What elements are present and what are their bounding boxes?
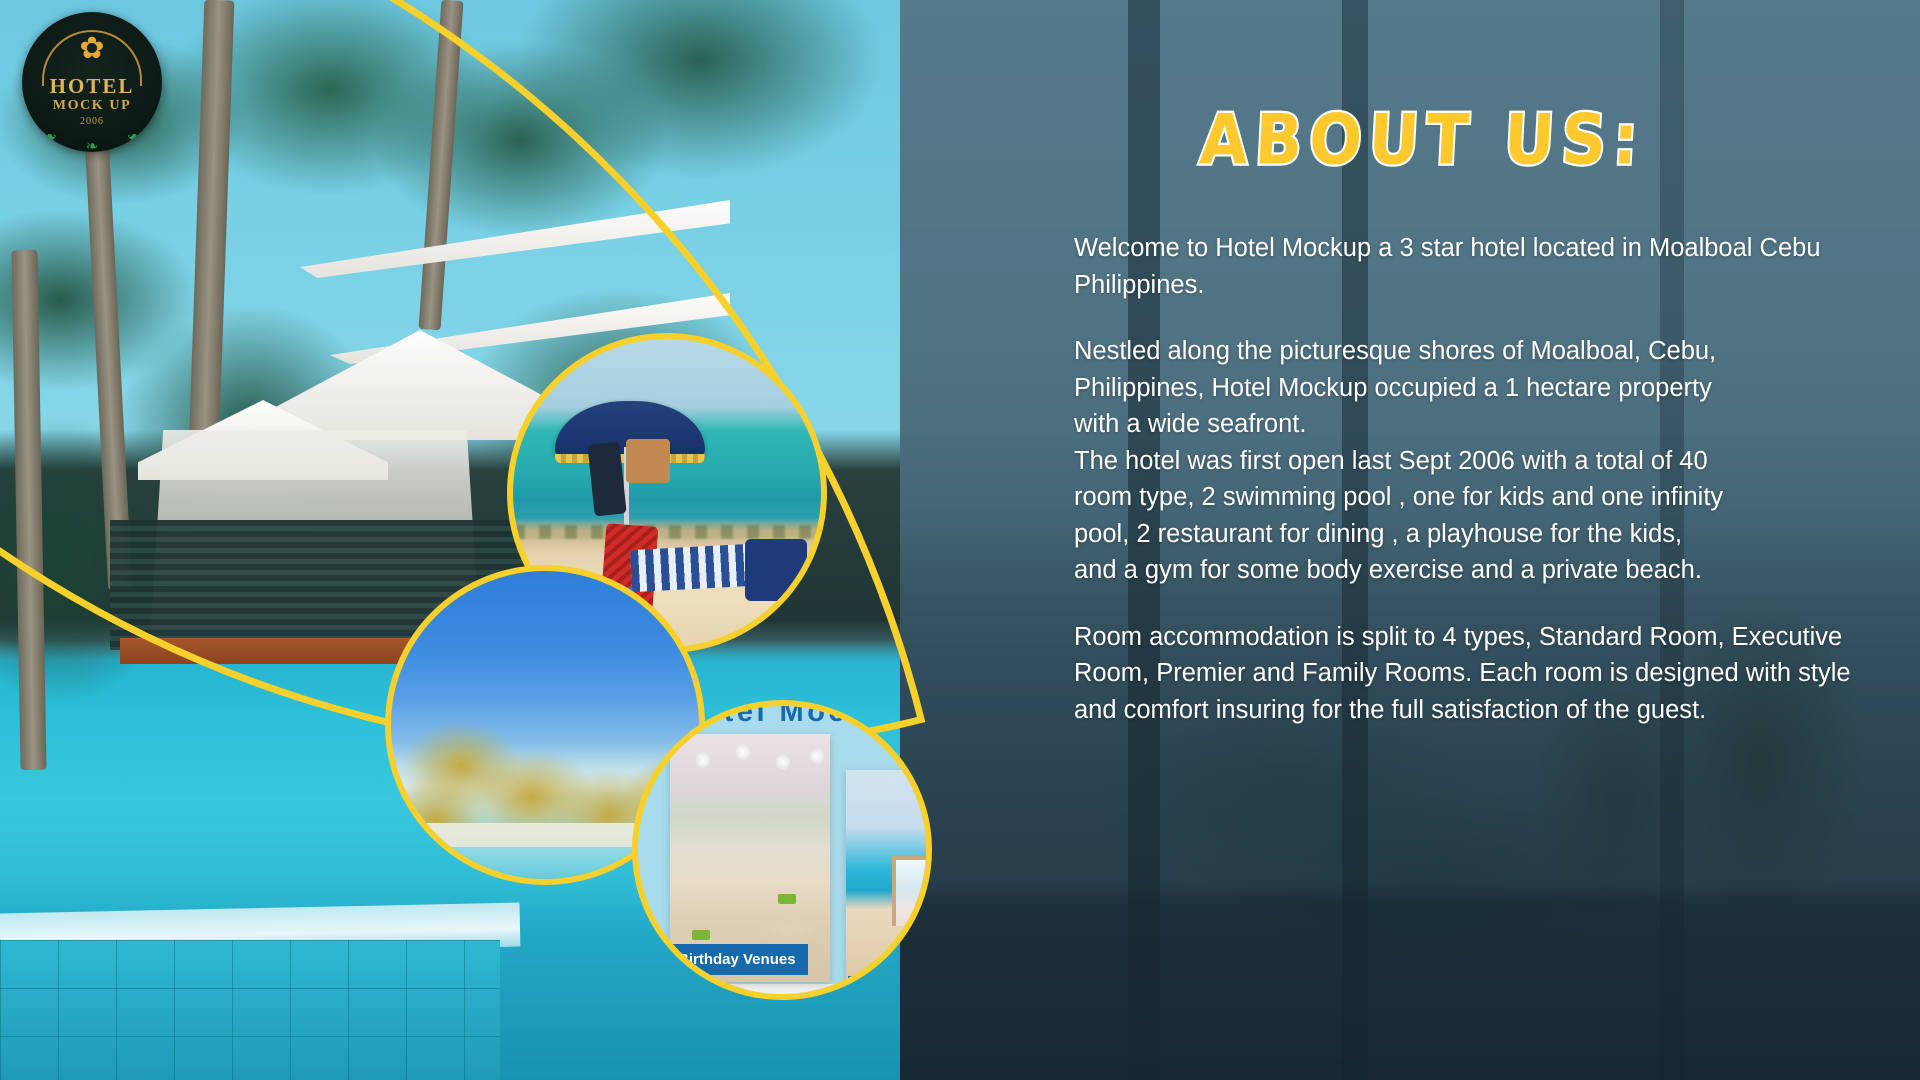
- pool-tile-wall: [0, 940, 500, 1080]
- about-paragraph-1: Welcome to Hotel Mockup a 3 star hotel l…: [1074, 230, 1864, 303]
- chandelier-icon: [736, 744, 750, 760]
- about-paragraph-2-line-2: Philippines, Hotel Mockup occupied a 1 h…: [1074, 370, 1864, 407]
- about-body-text: Welcome to Hotel Mockup a 3 star hotel l…: [1074, 230, 1864, 728]
- venues-card-inner: Hotel Mockup Eve Celebrate Birthday Venu…: [632, 700, 932, 1000]
- about-paragraph-2-line-4: The hotel was first open last Sept 2006 …: [1074, 443, 1864, 480]
- hotel-mockup-logo[interactable]: ✿ HOTEL MOCK UP 2006 ❧ ❧ ❧: [22, 12, 162, 152]
- about-paragraph-2-line-7: and a gym for some body exercise and a p…: [1074, 552, 1864, 589]
- logo-title-line2: MOCK UP: [22, 98, 162, 114]
- wedding-venue-photo: [846, 770, 932, 1000]
- hanging-bag: [626, 439, 670, 483]
- logo-title-line1: HOTEL: [22, 74, 162, 99]
- chandelier-icon: [776, 754, 790, 770]
- about-paragraph-2-line-6: pool, 2 restaurant for dining , a playho…: [1074, 516, 1864, 553]
- page-title: ABOUT US:: [1198, 99, 1647, 181]
- laurel-leaf-icon: ❧: [86, 139, 99, 152]
- badge-birthday-venues[interactable]: Birthday Venues: [666, 944, 808, 975]
- beach-chair: [745, 539, 807, 601]
- chandelier-icon: [810, 748, 824, 764]
- about-paragraph-2-line-3: with a wide seafront.: [1074, 406, 1864, 443]
- about-paragraph-2-line-5: room type, 2 swimming pool , one for kid…: [1074, 479, 1864, 516]
- green-napkin: [692, 930, 710, 940]
- venues-card-circle: Hotel Mockup Eve Celebrate Birthday Venu…: [632, 700, 932, 1000]
- logo-year: 2006: [22, 116, 162, 127]
- shoreline-reef: [513, 525, 827, 539]
- lotus-icon: ✿: [79, 34, 104, 64]
- beach-lounger: [630, 544, 752, 592]
- chandelier-icon: [696, 752, 710, 768]
- paragraph-spacer: [1074, 303, 1864, 333]
- about-us-slide: Hotel Mockup Eve Celebrate Birthday Venu…: [0, 0, 1920, 1080]
- paragraph-spacer: [1074, 589, 1864, 619]
- about-paragraph-2-line-1: Nestled along the picturesque shores of …: [1074, 333, 1864, 370]
- green-napkin: [778, 894, 796, 904]
- about-paragraph-3: Room accommodation is split to 4 types, …: [1074, 619, 1864, 729]
